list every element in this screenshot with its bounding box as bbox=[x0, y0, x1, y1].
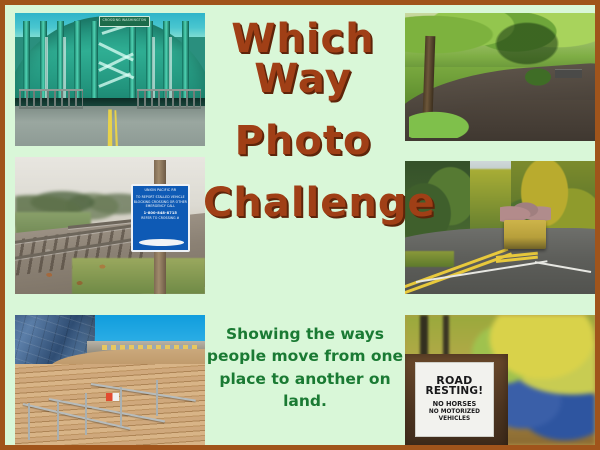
sign-line-vehicles: VEHICLES bbox=[439, 416, 471, 424]
bridge-girder bbox=[129, 21, 136, 109]
ground-cover bbox=[409, 110, 474, 138]
photo-stairs-plaza bbox=[15, 315, 205, 445]
shrub bbox=[523, 67, 553, 87]
bridge-guardrail-right bbox=[137, 89, 202, 109]
bridge-guardrail-left bbox=[19, 89, 84, 109]
yellow-truck bbox=[504, 220, 546, 249]
rail-post bbox=[156, 380, 158, 416]
road-resting-sign: ROAD RESTING! NO HORSES NO MOTORIZED VEH… bbox=[415, 362, 495, 437]
poster-title: Which Way Photo Challenge bbox=[203, 19, 403, 223]
orange-white-marker bbox=[106, 393, 119, 401]
sign-line-no-horses: NO HORSES bbox=[433, 400, 477, 409]
highway-sign-plate: CROSSING WASHINGTON bbox=[99, 16, 150, 27]
up-sign-header: UNION PACIFIC RR bbox=[145, 188, 177, 193]
poster-subtitle: Showing the ways people move from one pl… bbox=[203, 323, 407, 413]
photo-trail-sign: ROAD RESTING! NO HORSES NO MOTORIZED VEH… bbox=[405, 315, 595, 445]
title-line-1: Which Way bbox=[203, 19, 403, 99]
rail-post bbox=[28, 403, 30, 439]
title-line-3: Challenge bbox=[203, 183, 403, 223]
sign-line-resting: RESTING! bbox=[426, 386, 484, 398]
rail-post bbox=[85, 393, 87, 435]
title-line-2: Photo bbox=[203, 121, 403, 161]
photo-truss-bridge: CROSSING WASHINGTON bbox=[15, 13, 205, 146]
shaded-woods bbox=[489, 18, 565, 69]
up-sign-body: TO REPORT STALLED VEHICLE BLOCKING CROSS… bbox=[133, 195, 188, 208]
bridge-center-line bbox=[108, 110, 113, 146]
poster-canvas: CROSSING WASHINGTON UNION PACIFIC RR TO … bbox=[0, 0, 600, 450]
photo-park-path bbox=[405, 13, 595, 141]
bridge-girder bbox=[91, 21, 98, 109]
rail-post bbox=[120, 387, 122, 426]
wide-staircase bbox=[15, 364, 205, 445]
park-bench bbox=[555, 69, 582, 78]
roadside-verge bbox=[405, 251, 454, 267]
rail-post bbox=[57, 401, 59, 440]
highway-sign-text: CROSSING WASHINGTON bbox=[100, 18, 149, 22]
photo-railroad-crossing: UNION PACIFIC RR TO REPORT STALLED VEHIC… bbox=[15, 157, 205, 294]
sign-line-no-motorized: NO MOTORIZED bbox=[429, 409, 480, 417]
up-sign-footer: REFER TO CROSSING # bbox=[141, 216, 179, 220]
up-sign-blank-strip bbox=[139, 239, 185, 246]
